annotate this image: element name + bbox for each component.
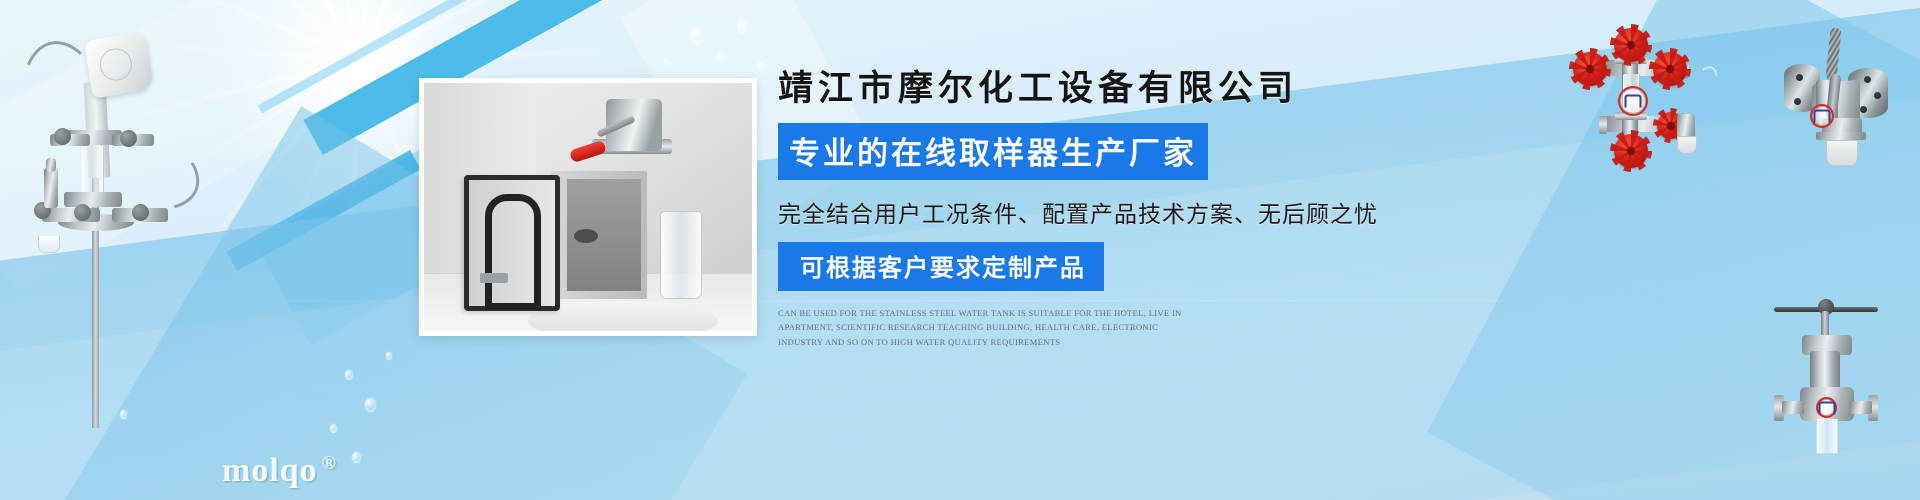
company-seal-icon xyxy=(1618,86,1648,116)
product-photo xyxy=(419,78,757,336)
valve-handwheel-right xyxy=(1653,52,1687,86)
valve-handwheel-top xyxy=(1614,28,1648,62)
tertiary-headline-row: 可根据客户要求定制产品 xyxy=(778,242,1418,291)
secondary-headline: 完全结合用户工况条件、配置产品技术方案、无后顾之忧 xyxy=(778,195,1418,229)
water-drop-icon xyxy=(345,370,353,380)
water-drop-icon xyxy=(716,52,725,63)
water-drop-icon xyxy=(120,410,127,419)
water-drop-icon xyxy=(757,62,765,72)
valve-handwheel-left xyxy=(1573,52,1607,86)
company-title: 靖江市摩尔化工设备有限公司 xyxy=(778,70,1418,109)
primary-headline: 专业的在线取样器生产厂家 xyxy=(778,123,1208,180)
right-equipment-cross-valve-manifold xyxy=(1565,30,1725,160)
water-drop-icon xyxy=(330,424,337,433)
primary-headline-row: 专业的在线取样器生产厂家 xyxy=(778,123,1418,180)
company-seal-icon xyxy=(1810,104,1834,128)
water-drop-icon xyxy=(690,28,703,44)
water-drop-icon xyxy=(737,20,747,33)
right-equipment-lever-flanged-valve xyxy=(1760,22,1910,182)
water-drop-icon xyxy=(664,58,671,66)
headline-text-block: 靖江市摩尔化工设备有限公司 专业的在线取样器生产厂家 完全结合用户工况条件、配置… xyxy=(778,70,1418,349)
promo-banner: 靖江市摩尔化工设备有限公司 专业的在线取样器生产厂家 完全结合用户工况条件、配置… xyxy=(0,0,1920,500)
brand-watermark: molqo® xyxy=(222,452,337,490)
english-caption: CAN BE USED FOR THE STAINLESS STEEL WATE… xyxy=(778,306,1198,350)
tertiary-headline: 可根据客户要求定制产品 xyxy=(778,242,1104,291)
valve-handwheel-bottom xyxy=(1614,134,1648,168)
water-drop-icon xyxy=(352,452,361,463)
water-drop-icon xyxy=(386,352,392,360)
left-equipment-pole-sampler xyxy=(8,18,183,308)
company-seal-icon xyxy=(1816,397,1837,418)
brand-watermark-text: molqo xyxy=(222,452,318,489)
right-equipment-sampling-valve xyxy=(1768,283,1888,448)
registered-trademark-symbol: ® xyxy=(322,453,337,474)
water-drop-icon xyxy=(365,398,376,412)
